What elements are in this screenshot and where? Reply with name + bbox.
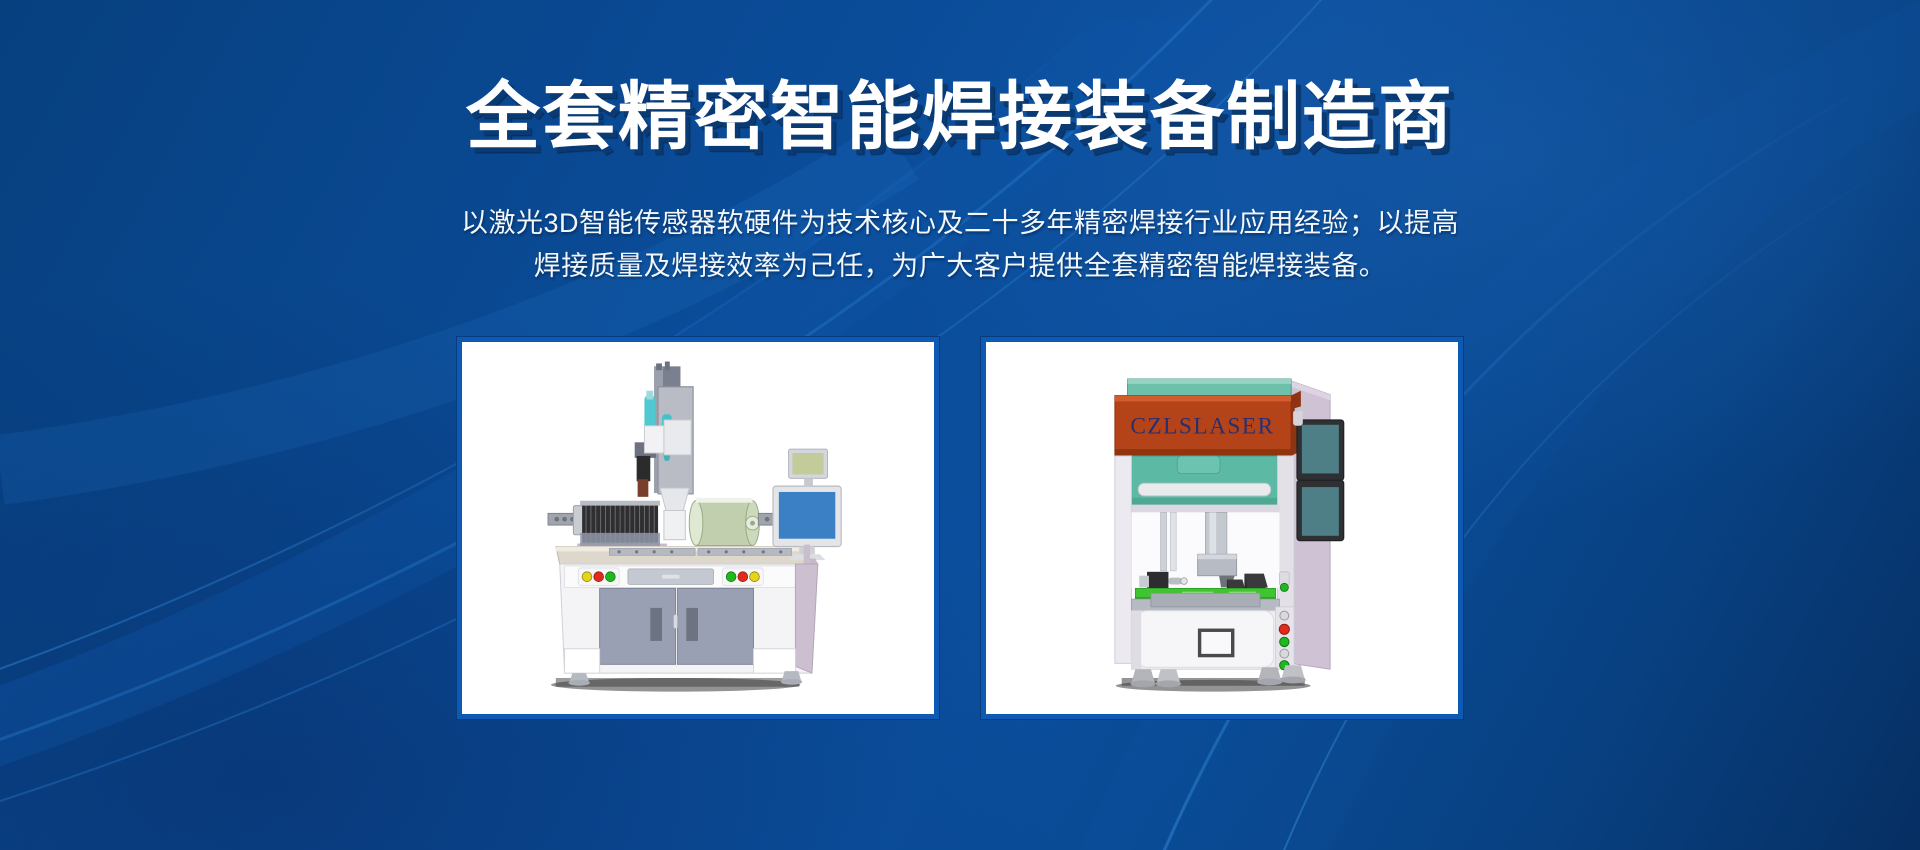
subtitle-line-2: 焊接质量及焊接效率为己任，为广大客户提供全套精密智能焊接装备。 xyxy=(400,245,1520,289)
brand-label: CZLSLASER xyxy=(1130,414,1274,440)
product-image-gallery: CZLSLASER xyxy=(457,337,1463,719)
precision-laser-welding-machine-illustration xyxy=(462,342,934,714)
page-title: 全套精密智能焊接装备制造商 xyxy=(466,78,1454,156)
indicator-lights-left xyxy=(578,568,619,586)
hero-banner: 全套精密智能焊接装备制造商 以激光3D智能传感器软硬件为技术核心及二十多年精密焊… xyxy=(0,0,1920,850)
indicator-lights-right xyxy=(722,568,763,586)
banner-content: 全套精密智能焊接装备制造商 以激光3D智能传感器软硬件为技术核心及二十多年精密焊… xyxy=(0,0,1920,850)
operator-monitors xyxy=(1293,406,1344,540)
enclosed-laser-welding-station-illustration: CZLSLASER xyxy=(986,342,1458,714)
banner-subtitle: 以激光3D智能传感器软硬件为技术核心及二十多年精密焊接行业应用经验；以提高 焊接… xyxy=(400,202,1520,289)
product-card-precision-laser-welding-machine[interactable] xyxy=(457,337,939,719)
subtitle-line-1: 以激光3D智能传感器软硬件为技术核心及二十多年精密焊接行业应用经验；以提高 xyxy=(400,202,1520,246)
control-button-column xyxy=(1276,607,1295,670)
product-card-enclosed-laser-welding-station[interactable]: CZLSLASER xyxy=(981,337,1463,719)
